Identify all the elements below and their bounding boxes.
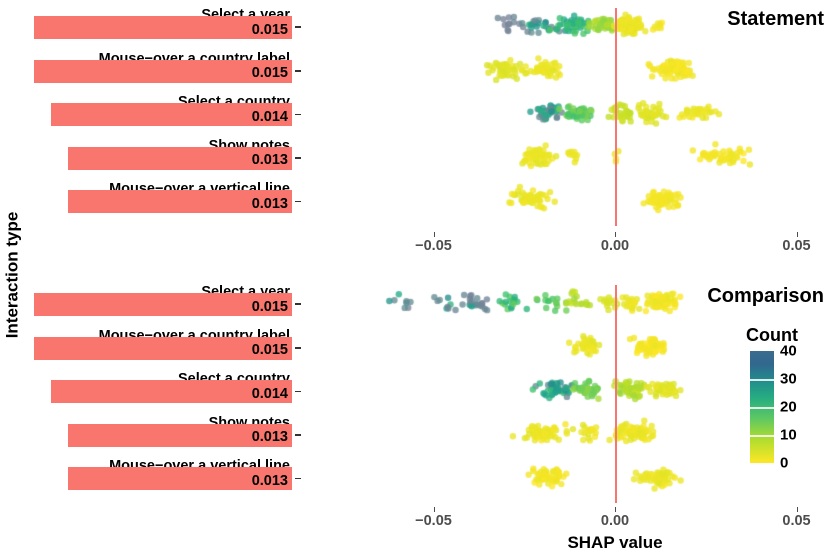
bar-panel-statement: Select a year0.015Mouse−over a country l… (24, 8, 292, 226)
y-axis-tick (295, 157, 301, 159)
bar-value-label: 0.014 (252, 387, 288, 402)
bar-row[interactable]: Mouse−over a vertical line0.013 (24, 182, 292, 226)
legend-tick (750, 407, 774, 409)
bar-row[interactable]: Select a year0.015 (24, 8, 292, 52)
bar-row[interactable]: Select a year0.015 (24, 285, 292, 329)
y-axis-title-label: Interaction type (2, 212, 22, 339)
bar-row[interactable]: Select a country0.014 (24, 372, 292, 416)
bar-value-label: 0.015 (252, 300, 288, 315)
bar-value-label: 0.013 (252, 153, 288, 168)
bar-value-label: 0.015 (252, 343, 288, 358)
x-axis-tick (797, 232, 798, 237)
x-axis-tick (615, 507, 616, 512)
bar-value-label: 0.013 (252, 430, 288, 445)
x-axis-comparison: −0.050.000.05 (0, 507, 830, 535)
bar-panel-comparison: Select a year0.015Mouse−over a country l… (24, 285, 292, 503)
bar-value-label: 0.013 (252, 197, 288, 212)
bar-value-label: 0.015 (252, 66, 288, 81)
bar-row[interactable]: Show notes0.013 (24, 139, 292, 183)
y-axis-tick (295, 114, 301, 116)
bar-rect[interactable]: 0.013 (68, 147, 292, 170)
bar-row[interactable]: Select a country0.014 (24, 95, 292, 139)
bar-value-label: 0.014 (252, 110, 288, 125)
legend-tick-label: 40 (780, 343, 797, 360)
y-axis-title: Interaction type (0, 0, 25, 550)
x-axis-tick-label: 0.05 (782, 238, 810, 254)
x-axis-statement: −0.050.000.05 (0, 232, 830, 260)
bar-rect[interactable]: 0.015 (34, 60, 292, 83)
legend-tick-label: 30 (780, 371, 797, 388)
bar-rect[interactable]: 0.015 (34, 337, 292, 360)
legend: Count 403020100 (740, 325, 830, 490)
zero-reference-line-comparison (615, 285, 617, 503)
bar-row[interactable]: Mouse−over a country label0.015 (24, 329, 292, 373)
bar-rect[interactable]: 0.013 (68, 424, 292, 447)
bar-row[interactable]: Mouse−over a country label0.015 (24, 52, 292, 96)
x-axis-title: SHAP value (567, 533, 662, 553)
x-axis-tick (434, 232, 435, 237)
y-axis-tick (295, 391, 301, 393)
figure-root: Interaction type Select a year0.015Mouse… (0, 0, 830, 550)
y-axis-tick (295, 201, 301, 203)
panel-title-comparison: Comparison (707, 285, 824, 308)
y-axis-tick (295, 26, 301, 28)
panel-title-statement: Statement (727, 8, 824, 31)
legend-tick-label: 10 (780, 427, 797, 444)
beeswarm-panel-statement: Statement (335, 8, 828, 226)
x-axis-tick (615, 232, 616, 237)
y-axis-tick (295, 347, 301, 349)
bar-rect[interactable]: 0.014 (51, 103, 292, 126)
beeswarm-points-statement (335, 8, 828, 226)
x-axis-tick (797, 507, 798, 512)
bar-rect[interactable]: 0.013 (68, 190, 292, 213)
bar-rect[interactable]: 0.015 (34, 293, 292, 316)
zero-reference-line-statement (615, 8, 617, 226)
y-axis-tick (295, 70, 301, 72)
y-axis-tick (295, 303, 301, 305)
x-axis-tick-label: 0.00 (601, 513, 629, 529)
legend-tick (750, 379, 774, 381)
bar-row[interactable]: Mouse−over a vertical line0.013 (24, 459, 292, 503)
x-axis-tick-label: 0.05 (782, 513, 810, 529)
bar-rect[interactable]: 0.014 (51, 380, 292, 403)
x-axis-tick-label: −0.05 (415, 238, 452, 254)
x-axis-tick-label: 0.00 (601, 238, 629, 254)
bar-rect[interactable]: 0.013 (68, 467, 292, 490)
bar-row[interactable]: Show notes0.013 (24, 416, 292, 460)
y-axis-tick (295, 434, 301, 436)
bar-rect[interactable]: 0.015 (34, 16, 292, 39)
legend-tick-label: 20 (780, 399, 797, 416)
bar-value-label: 0.015 (252, 23, 288, 38)
bar-value-label: 0.013 (252, 474, 288, 489)
legend-tick (750, 435, 774, 437)
x-axis-tick-label: −0.05 (415, 513, 452, 529)
x-axis-tick (434, 507, 435, 512)
y-axis-tick (295, 478, 301, 480)
legend-tick-label: 0 (780, 455, 788, 472)
